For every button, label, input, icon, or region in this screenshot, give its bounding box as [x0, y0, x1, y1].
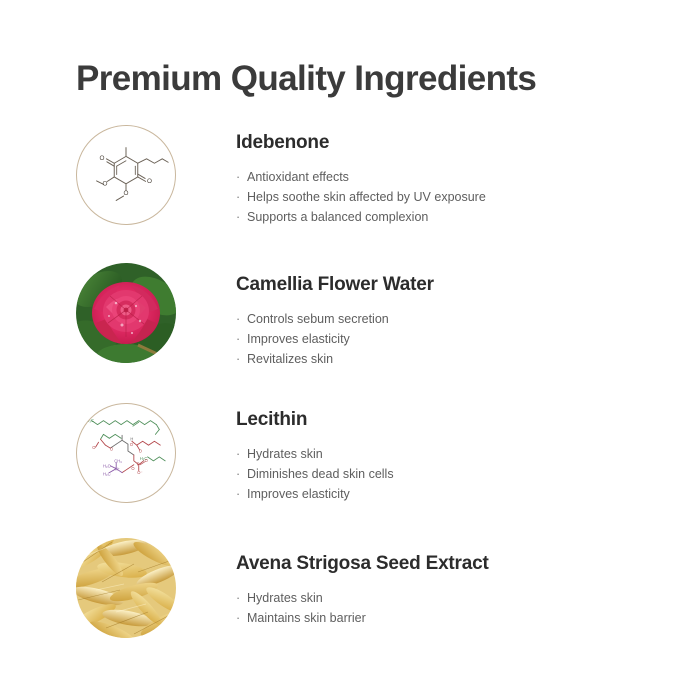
bullet-icon: · — [236, 187, 240, 207]
atom-label-o: O — [131, 466, 134, 471]
ingredient-row: Camellia Flower Water ·Controls sebum se… — [0, 258, 679, 394]
benefit-text: Supports a balanced complexion — [247, 210, 428, 224]
list-item: ·Revitalizes skin — [236, 349, 656, 369]
atom-label-o: O — [145, 458, 148, 463]
benefit-list: ·Hydrates skin ·Maintains skin barrier — [236, 588, 656, 628]
benefit-text: Antioxidant effects — [247, 170, 349, 184]
list-item: ·Diminishes dead skin cells — [236, 464, 656, 484]
benefit-list: ·Controls sebum secretion ·Improves elas… — [236, 309, 656, 369]
bullet-icon: · — [236, 444, 240, 464]
ingredient-row: H₃C O O H O O H₃C O P O O⁻ CH₃ H₃C H₃C N… — [0, 398, 679, 534]
camellia-flower-photo — [76, 263, 176, 363]
atom-label-o-minus: O⁻ — [137, 470, 142, 475]
benefit-list: ·Antioxidant effects ·Helps soothe skin … — [236, 167, 656, 227]
benefit-text: Improves elasticity — [247, 487, 350, 501]
bullet-icon: · — [236, 608, 240, 628]
bullet-icon: · — [236, 329, 240, 349]
page-title: Premium Quality Ingredients — [76, 59, 536, 99]
benefit-text: Improves elasticity — [247, 332, 350, 346]
atom-label-o: O — [147, 178, 152, 185]
ingredient-name: Idebenone — [236, 132, 656, 154]
benefit-list: ·Hydrates skin ·Diminishes dead skin cel… — [236, 444, 656, 504]
atom-label-o: O — [102, 180, 107, 187]
ingredient-name: Avena Strigosa Seed Extract — [236, 553, 656, 575]
ingredient-text-column: Idebenone ·Antioxidant effects ·Helps so… — [236, 132, 656, 227]
bullet-icon: · — [236, 588, 240, 608]
bullet-icon: · — [236, 207, 240, 227]
benefit-text: Controls sebum secretion — [247, 312, 389, 326]
list-item: ·Maintains skin barrier — [236, 608, 656, 628]
list-item: ·Improves elasticity — [236, 484, 656, 504]
ingredient-row: Avena Strigosa Seed Extract ·Hydrates sk… — [0, 533, 679, 669]
atom-label-h: H — [130, 436, 133, 441]
atom-label-ch3: CH₃ — [114, 458, 122, 463]
atom-label-n-plus: N⁺ — [115, 467, 120, 472]
benefit-text: Hydrates skin — [247, 591, 323, 605]
list-item: ·Hydrates skin — [236, 444, 656, 464]
oat-grains-photo — [76, 538, 176, 638]
atom-label-h3c: H₃C — [86, 418, 94, 423]
list-item: ·Hydrates skin — [236, 588, 656, 608]
ingredient-text-column: Lecithin ·Hydrates skin ·Diminishes dead… — [236, 409, 656, 504]
atom-label-o: O — [139, 449, 142, 454]
atom-label-o: O — [92, 445, 95, 450]
atom-label-o: O — [124, 190, 129, 197]
atom-label-o: O — [100, 155, 105, 162]
benefit-text: Maintains skin barrier — [247, 611, 366, 625]
benefit-text: Helps soothe skin affected by UV exposur… — [247, 190, 486, 204]
benefit-text: Diminishes dead skin cells — [247, 467, 394, 481]
atom-label-p: P — [137, 461, 140, 466]
atom-label-h3c: H₃C — [103, 472, 111, 477]
ingredient-row: O O O O Idebenone ·Antioxidant effects ·… — [0, 120, 679, 256]
atom-label-h3c: H₃C — [103, 464, 111, 469]
list-item: ·Supports a balanced complexion — [236, 207, 656, 227]
bullet-icon: · — [236, 349, 240, 369]
idebenone-chemical-structure-icon: O O O O — [76, 125, 176, 225]
benefit-text: Hydrates skin — [247, 447, 323, 461]
bullet-icon: · — [236, 484, 240, 504]
list-item: ·Antioxidant effects — [236, 167, 656, 187]
list-item: ·Helps soothe skin affected by UV exposu… — [236, 187, 656, 207]
ingredient-text-column: Camellia Flower Water ·Controls sebum se… — [236, 274, 656, 369]
atom-label-o: O — [130, 442, 133, 447]
ingredient-name: Lecithin — [236, 409, 656, 431]
ingredients-infographic: Premium Quality Ingredients — [0, 0, 679, 679]
ingredient-name: Camellia Flower Water — [236, 274, 656, 296]
lecithin-chemical-structure-icon: H₃C O O H O O H₃C O P O O⁻ CH₃ H₃C H₃C N… — [76, 403, 176, 503]
atom-label-o: O — [110, 447, 113, 452]
bullet-icon: · — [236, 309, 240, 329]
list-item: ·Improves elasticity — [236, 329, 656, 349]
benefit-text: Revitalizes skin — [247, 352, 333, 366]
bullet-icon: · — [236, 167, 240, 187]
ingredient-text-column: Avena Strigosa Seed Extract ·Hydrates sk… — [236, 553, 656, 628]
list-item: ·Controls sebum secretion — [236, 309, 656, 329]
bullet-icon: · — [236, 464, 240, 484]
